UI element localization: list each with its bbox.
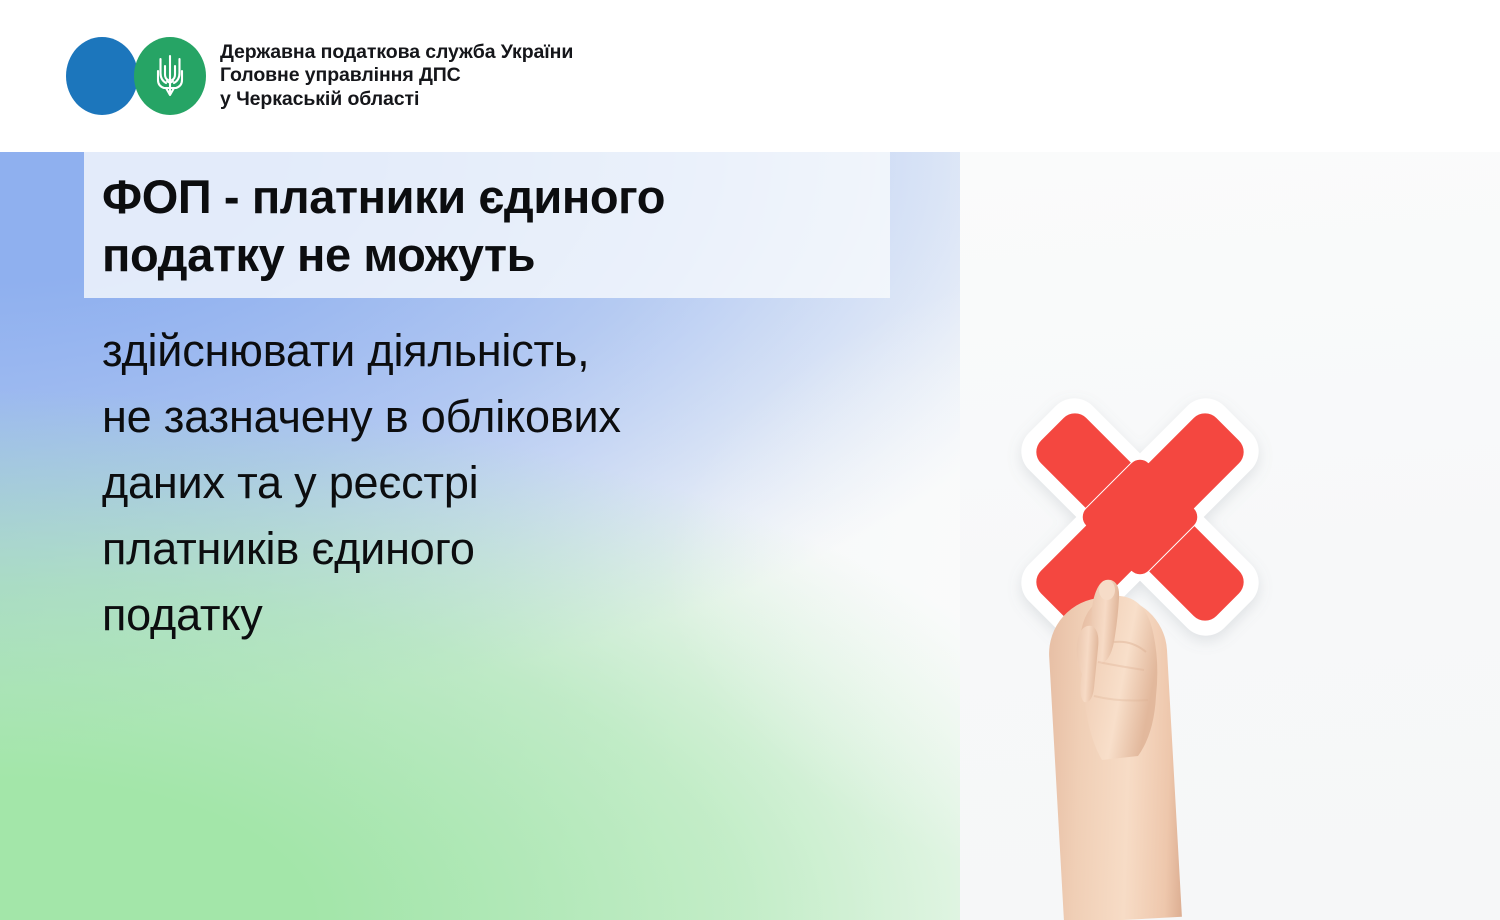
header-bar: Державна податкова служба України Головн… (0, 0, 1500, 152)
headline-line-2: податку не можуть (102, 226, 872, 284)
headline-line-1: ФОП - платники єдиного (102, 168, 872, 226)
subtext-block: здійснювати діяльність, не зазначену в о… (102, 318, 922, 648)
subtext-line-3: даних та у реєстрі (102, 450, 922, 516)
dps-logo (66, 37, 206, 115)
header-line-3: у Черкаській області (220, 88, 573, 112)
header-line-2: Головне управління ДПС (220, 64, 573, 88)
header-line-1: Державна податкова служба України (220, 41, 573, 65)
poster-canvas: Державна податкова служба України Головн… (0, 0, 1500, 920)
subtext-line-2: не зазначену в облікових (102, 384, 922, 450)
subtext-line-4: платників єдиного (102, 516, 922, 582)
header-title-group: Державна податкова служба України Головн… (220, 41, 573, 112)
headline-highlight-box: ФОП - платники єдиного податку не можуть (84, 151, 890, 298)
subtext-line-1: здійснювати діяльність, (102, 318, 922, 384)
hand-icon (1048, 570, 1198, 780)
subtext-line-5: податку (102, 582, 922, 648)
ukrainian-trident-icon (154, 51, 186, 101)
illustration-hand-with-x (960, 152, 1500, 920)
logo-blue-circle-icon (66, 37, 138, 115)
